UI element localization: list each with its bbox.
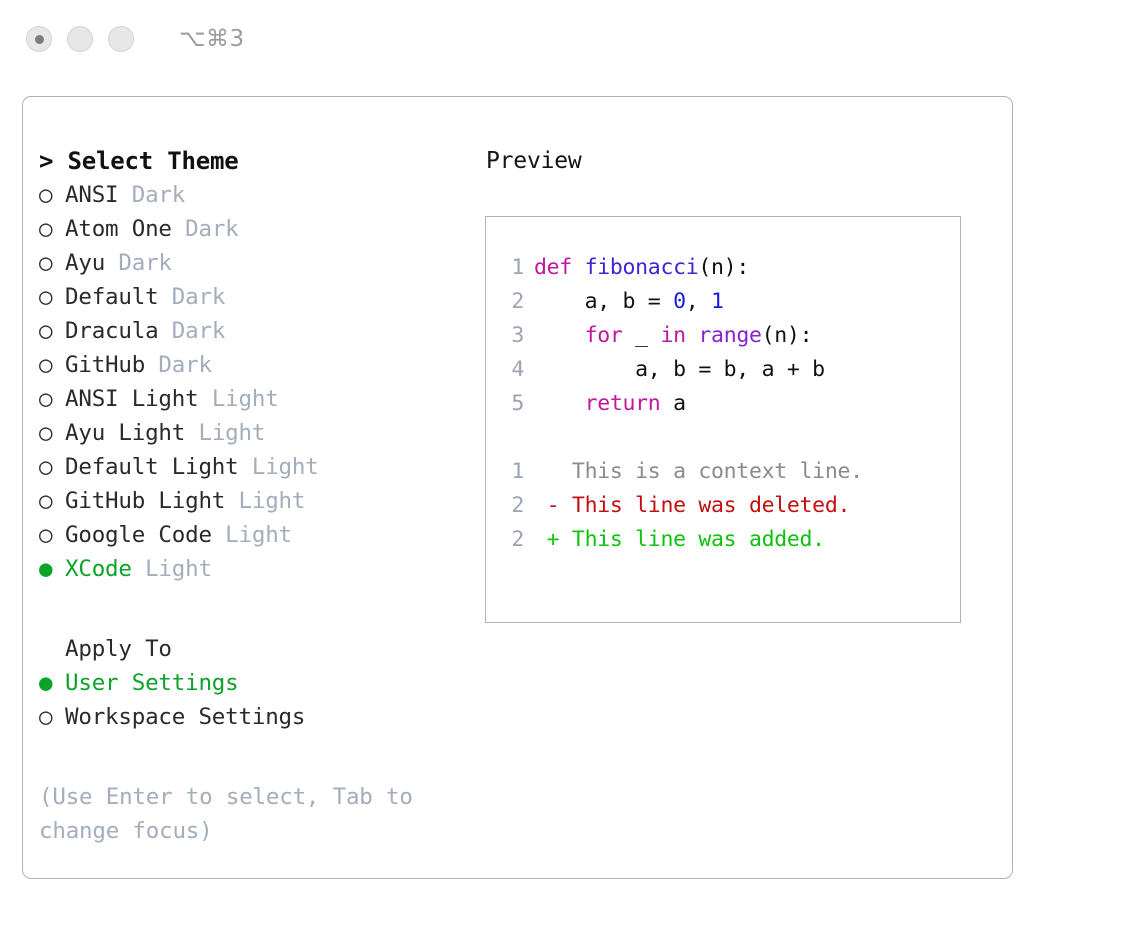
code-token-plain: (n): — [698, 255, 749, 280]
theme-option-9[interactable]: ○GitHub Light Light — [39, 484, 485, 518]
theme-option-category: Dark — [172, 216, 239, 242]
apply-to-option-label: User Settings — [65, 670, 239, 696]
theme-option-label: Default — [65, 284, 158, 310]
code-line-number: 2 — [500, 285, 524, 319]
code-line-number: 4 — [500, 353, 524, 387]
theme-option-label: Ayu Light — [65, 420, 185, 446]
code-token-kw: for — [585, 323, 623, 348]
window-dot-inner — [35, 35, 44, 44]
radio-unselected-icon: ○ — [39, 416, 65, 450]
code-line-number: 5 — [500, 387, 524, 421]
theme-option-label: XCode — [65, 556, 132, 582]
app-window: ⌥⌘3 > Select Theme ○ANSI Dark○Atom One D… — [0, 0, 1140, 934]
code-line-4: 5 return a — [486, 387, 960, 421]
preview-title: Preview — [486, 144, 1012, 178]
theme-option-10[interactable]: ○Google Code Light — [39, 518, 485, 552]
theme-option-8[interactable]: ○Default Light Light — [39, 450, 485, 484]
diff-line-0: 1 This is a context line. — [486, 455, 960, 489]
theme-option-category: Light — [225, 488, 305, 514]
diff-preview: 1 This is a context line.2 - This line w… — [486, 455, 960, 557]
theme-option-label: GitHub — [65, 352, 145, 378]
diff-line-text: + This line was added. — [534, 527, 825, 552]
theme-option-label: GitHub Light — [65, 488, 225, 514]
radio-unselected-icon: ○ — [39, 178, 65, 212]
diff-line-number: 1 — [500, 455, 524, 489]
window-dot-3-icon[interactable] — [108, 26, 134, 52]
code-token-kw: return — [585, 391, 661, 416]
list-spacer — [39, 586, 485, 632]
code-token-plain — [534, 391, 585, 416]
hint-spacer — [39, 734, 485, 780]
apply-to-option-1[interactable]: ○Workspace Settings — [39, 700, 485, 734]
preview-gap — [486, 421, 960, 455]
code-token-plain — [686, 323, 699, 348]
code-token-plain: a — [660, 391, 685, 416]
code-line-2: 3 for _ in range(n): — [486, 319, 960, 353]
keyboard-hint-text: (Use Enter to select, Tab to change focu… — [39, 780, 449, 848]
code-token-num: 0 — [673, 289, 686, 314]
code-token-plain: a, b = — [534, 289, 673, 314]
code-token-plain: a, b = b, a + b — [534, 357, 825, 382]
theme-option-2[interactable]: ○Ayu Dark — [39, 246, 485, 280]
radio-unselected-icon: ○ — [39, 314, 65, 348]
keyboard-shortcut-label: ⌥⌘3 — [179, 26, 245, 52]
window-dot-2-icon[interactable] — [67, 26, 93, 52]
code-line-0: 1def fibonacci(n): — [486, 251, 960, 285]
radio-unselected-icon: ○ — [39, 280, 65, 314]
code-preview: 1def fibonacci(n):2 a, b = 0, 13 for _ i… — [486, 251, 960, 421]
radio-unselected-icon: ○ — [39, 484, 65, 518]
theme-option-6[interactable]: ○ANSI Light Light — [39, 382, 485, 416]
apply-to-option-label: Workspace Settings — [65, 704, 305, 730]
theme-option-category: Dark — [118, 182, 185, 208]
theme-option-label: Default Light — [65, 454, 239, 480]
theme-option-7[interactable]: ○Ayu Light Light — [39, 416, 485, 450]
theme-list-column: > Select Theme ○ANSI Dark○Atom One Dark○… — [23, 97, 485, 878]
code-line-number: 1 — [500, 251, 524, 285]
theme-option-label: Atom One — [65, 216, 172, 242]
apply-to-heading: Apply To — [39, 632, 485, 666]
diff-line-text: This is a context line. — [534, 459, 863, 484]
theme-option-11[interactable]: ●XCode Light — [39, 552, 485, 586]
code-token-fn: fibonacci — [585, 255, 699, 280]
diff-line-2: 2 + This line was added. — [486, 523, 960, 557]
preview-box: 1def fibonacci(n):2 a, b = 0, 13 for _ i… — [485, 216, 961, 623]
theme-option-0[interactable]: ○ANSI Dark — [39, 178, 485, 212]
radio-unselected-icon: ○ — [39, 382, 65, 416]
code-token-num: 1 — [711, 289, 724, 314]
code-line-1: 2 a, b = 0, 1 — [486, 285, 960, 319]
radio-unselected-icon: ○ — [39, 700, 65, 734]
theme-option-label: Ayu — [65, 250, 105, 276]
radio-selected-icon: ● — [39, 666, 65, 700]
theme-option-category: Dark — [105, 250, 172, 276]
preview-column: Preview 1def fibonacci(n):2 a, b = 0, 13… — [485, 97, 1012, 878]
radio-selected-icon: ● — [39, 552, 65, 586]
theme-option-category: Light — [132, 556, 212, 582]
radio-unselected-icon: ○ — [39, 212, 65, 246]
apply-to-option-0[interactable]: ●User Settings — [39, 666, 485, 700]
diff-line-text: - This line was deleted. — [534, 493, 850, 518]
radio-unselected-icon: ○ — [39, 246, 65, 280]
theme-option-category: Light — [185, 420, 265, 446]
theme-option-3[interactable]: ○Default Dark — [39, 280, 485, 314]
diff-line-number: 2 — [500, 523, 524, 557]
code-token-kw: def — [534, 255, 585, 280]
diff-line-number: 2 — [500, 489, 524, 523]
code-token-plain: (n): — [762, 323, 813, 348]
theme-option-1[interactable]: ○Atom One Dark — [39, 212, 485, 246]
radio-unselected-icon: ○ — [39, 450, 65, 484]
radio-unselected-icon: ○ — [39, 518, 65, 552]
theme-option-category: Dark — [158, 284, 225, 310]
theme-option-category: Light — [198, 386, 278, 412]
code-line-3: 4 a, b = b, a + b — [486, 353, 960, 387]
code-token-callfn: range — [698, 323, 761, 348]
radio-unselected-icon: ○ — [39, 348, 65, 382]
code-line-number: 3 — [500, 319, 524, 353]
theme-picker-panel: > Select Theme ○ANSI Dark○Atom One Dark○… — [22, 96, 1013, 879]
code-token-kw: in — [660, 323, 685, 348]
apply-to-list[interactable]: ●User Settings○Workspace Settings — [39, 666, 485, 734]
theme-option-category: Dark — [145, 352, 212, 378]
theme-option-label: ANSI — [65, 182, 118, 208]
theme-option-category: Dark — [158, 318, 225, 344]
theme-option-label: ANSI Light — [65, 386, 198, 412]
theme-list[interactable]: ○ANSI Dark○Atom One Dark○Ayu Dark○Defaul… — [39, 178, 485, 586]
code-token-plain: , — [686, 289, 711, 314]
theme-option-4[interactable]: ○Dracula Dark — [39, 314, 485, 348]
code-token-plain: _ — [623, 323, 661, 348]
diff-line-1: 2 - This line was deleted. — [486, 489, 960, 523]
theme-option-category: Light — [212, 522, 292, 548]
theme-option-label: Dracula — [65, 318, 158, 344]
theme-option-label: Google Code — [65, 522, 212, 548]
theme-option-category: Light — [239, 454, 319, 480]
code-token-plain — [534, 323, 585, 348]
select-theme-title: > Select Theme — [39, 144, 485, 178]
theme-option-5[interactable]: ○GitHub Dark — [39, 348, 485, 382]
window-dot-active-icon[interactable] — [26, 26, 52, 52]
title-bar: ⌥⌘3 — [0, 0, 1140, 78]
